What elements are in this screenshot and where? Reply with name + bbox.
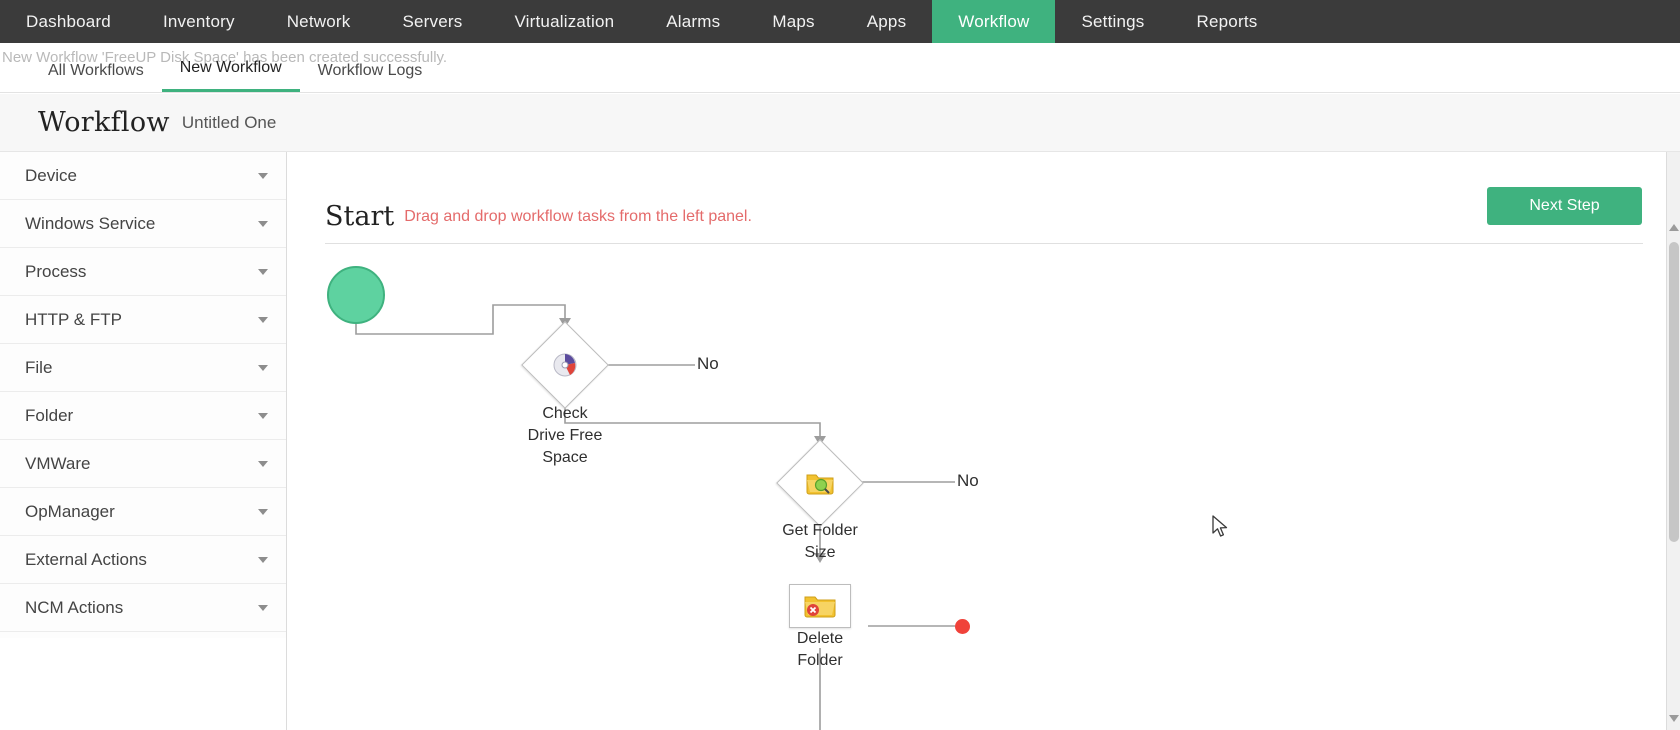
page-title: Workflow [38,107,170,138]
nav-label: Virtualization [514,12,614,32]
nav-item-virtualization[interactable]: Virtualization [488,0,640,43]
app-root: Dashboard Inventory Network Servers Virt… [0,0,1680,730]
nav-item-dashboard[interactable]: Dashboard [0,0,137,43]
panel-item-vmware[interactable]: VMWare [0,440,286,488]
panel-item-process[interactable]: Process [0,248,286,296]
workflow-subtabs: All Workflows New Workflow Workflow Logs [0,46,1680,93]
panel-item-file[interactable]: File [0,344,286,392]
panel-item-label: VMWare [25,454,91,474]
tab-workflow-logs[interactable]: Workflow Logs [300,62,441,92]
panel-item-opmanager[interactable]: OpManager [0,488,286,536]
nav-label: Workflow [958,12,1029,32]
panel-item-external-actions[interactable]: External Actions [0,536,286,584]
folder-search-icon [803,466,837,500]
nav-item-alarms[interactable]: Alarms [640,0,746,43]
panel-item-device[interactable]: Device [0,152,286,200]
chevron-down-icon [258,461,268,467]
workflow-connectors [325,248,1643,730]
tab-label: Workflow Logs [318,62,423,79]
nav-item-network[interactable]: Network [261,0,377,43]
canvas-hint-text: Drag and drop workflow tasks from the le… [404,208,752,226]
nav-label: Settings [1081,12,1144,32]
nav-item-inventory[interactable]: Inventory [137,0,261,43]
workflow-node-start[interactable] [327,266,385,324]
chevron-down-icon [258,557,268,563]
disk-icon [548,348,582,382]
panel-item-label: Device [25,166,77,186]
nav-label: Maps [772,12,814,32]
workflow-node-label-check-drive-free-space: Check Drive Free Space [505,403,625,469]
branch-label-check-drive-no: No [697,354,719,374]
workflow-node-end[interactable] [955,619,970,634]
panel-item-http-ftp[interactable]: HTTP & FTP [0,296,286,344]
canvas-header: Start Drag and drop workflow tasks from … [325,190,1643,244]
chevron-down-icon [258,605,268,611]
task-category-panel: Device Windows Service Process HTTP & FT… [0,152,287,638]
nav-label: Servers [402,12,462,32]
nav-item-servers[interactable]: Servers [376,0,488,43]
panel-item-label: File [25,358,52,378]
panel-item-label: External Actions [25,550,147,570]
panel-item-label: OpManager [25,502,115,522]
workflow-diagram[interactable]: Check Drive Free Space No Get Folder Siz… [325,248,1643,730]
nav-item-workflow[interactable]: Workflow [932,0,1055,43]
scroll-up-icon[interactable] [1669,224,1679,231]
nav-label: Alarms [666,12,720,32]
chevron-down-icon [258,221,268,227]
chevron-down-icon [258,173,268,179]
scroll-down-icon[interactable] [1669,715,1679,722]
nav-label: Dashboard [26,12,111,32]
panel-item-folder[interactable]: Folder [0,392,286,440]
tab-label: All Workflows [48,62,144,79]
panel-item-ncm-actions[interactable]: NCM Actions [0,584,286,632]
task-panel-empty-area [0,638,287,730]
folder-delete-icon [802,591,838,621]
nav-item-maps[interactable]: Maps [746,0,840,43]
workflow-node-label-delete-folder: Delete Folder [760,628,880,672]
workflow-node-label-get-folder-size: Get Folder Size [760,520,880,564]
panel-item-label: HTTP & FTP [25,310,122,330]
workflow-canvas[interactable]: Start Drag and drop workflow tasks from … [287,152,1680,730]
next-step-button[interactable]: Next Step [1487,187,1642,225]
workflow-name[interactable]: Untitled One [182,113,277,133]
nav-item-apps[interactable]: Apps [841,0,933,43]
nav-label: Inventory [163,12,235,32]
panel-item-label: Process [25,262,86,282]
canvas-start-label: Start [325,201,394,232]
nav-item-reports[interactable]: Reports [1171,0,1284,43]
panel-item-windows-service[interactable]: Windows Service [0,200,286,248]
chevron-down-icon [258,269,268,275]
branch-label-get-folder-size-no: No [957,471,979,491]
panel-item-label: Windows Service [25,214,155,234]
chevron-down-icon [258,317,268,323]
scrollbar-thumb[interactable] [1669,242,1679,542]
top-navigation-bar: Dashboard Inventory Network Servers Virt… [0,0,1680,43]
canvas-vertical-scrollbar[interactable] [1666,152,1680,730]
chevron-down-icon [258,365,268,371]
chevron-down-icon [258,413,268,419]
chevron-down-icon [258,509,268,515]
nav-label: Network [287,12,351,32]
nav-label: Apps [867,12,907,32]
panel-item-label: Folder [25,406,73,426]
panel-item-label: NCM Actions [25,598,123,618]
workflow-node-delete-folder[interactable] [789,584,851,628]
tab-label: New Workflow [180,59,282,76]
tab-all-workflows[interactable]: All Workflows [30,62,162,92]
nav-label: Reports [1197,12,1258,32]
tab-new-workflow[interactable]: New Workflow [162,59,300,92]
page-titlebar: Workflow Untitled One [0,94,1680,152]
nav-item-settings[interactable]: Settings [1055,0,1170,43]
